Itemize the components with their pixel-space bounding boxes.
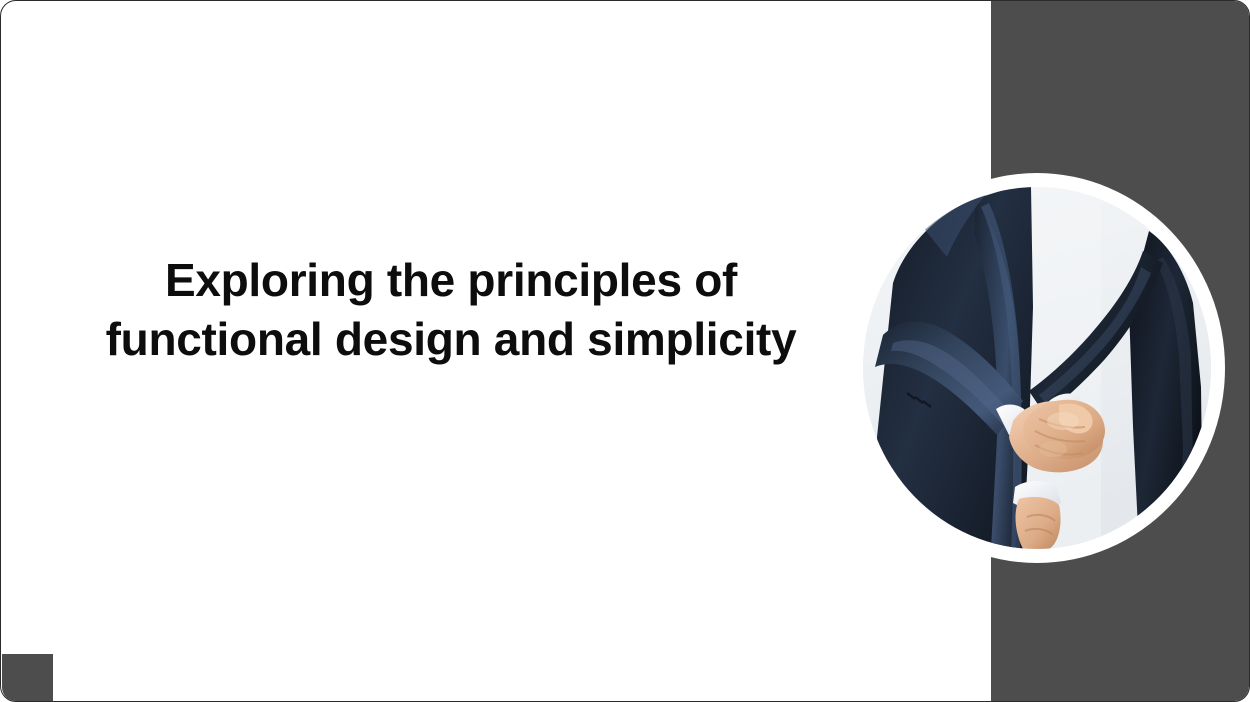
presentation-slide: Exploring the principles of functional d… [0, 0, 1250, 702]
photo-ring [849, 173, 1225, 563]
slide-title: Exploring the principles of functional d… [81, 251, 821, 369]
bottom-left-accent-block [2, 654, 53, 702]
handshake-photo [863, 187, 1211, 549]
title-block: Exploring the principles of functional d… [81, 251, 821, 369]
handshake-photo-graphic [863, 187, 1211, 549]
